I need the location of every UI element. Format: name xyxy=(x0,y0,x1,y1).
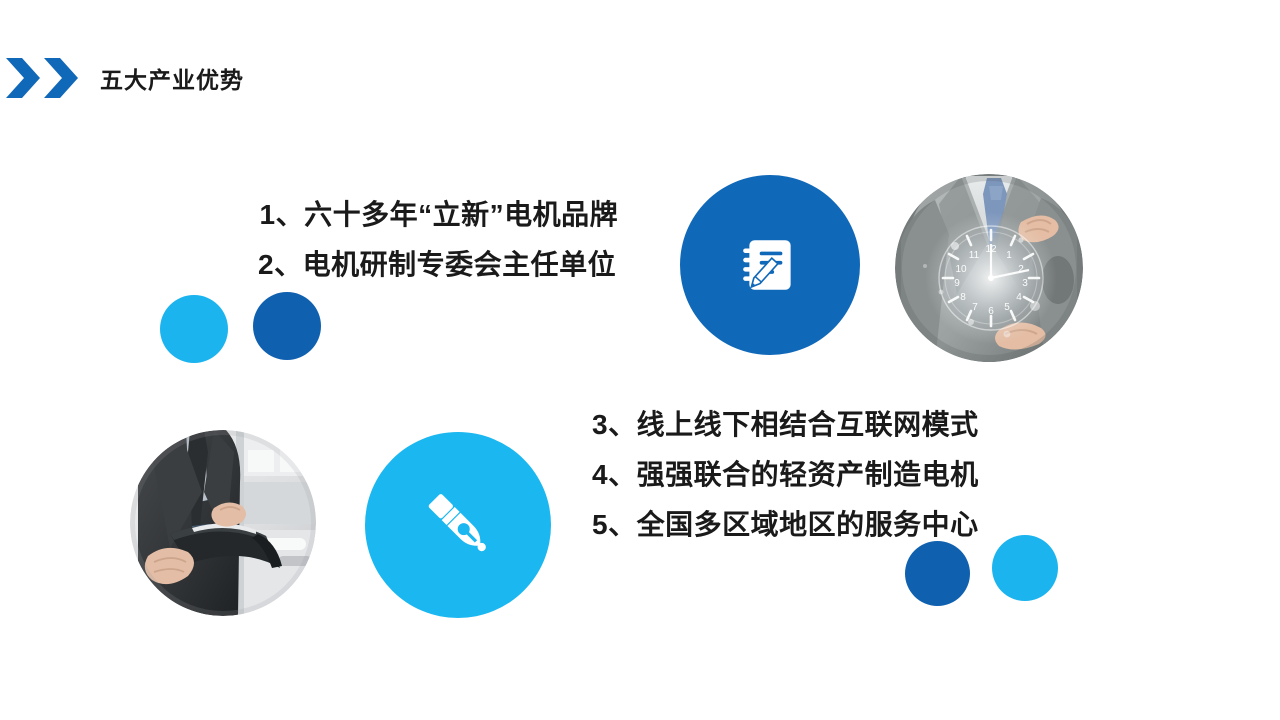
list-item: 2、电机研制专委会主任单位 xyxy=(258,240,618,290)
list-item: 5、全国多区域地区的服务中心 xyxy=(592,500,979,550)
svg-text:3: 3 xyxy=(1022,278,1028,289)
list-item: 1、六十多年“立新”电机品牌 xyxy=(258,190,618,240)
advantages-list-bottom: 3、线上线下相结合互联网模式 4、强强联合的轻资产制造电机 5、全国多区域地区的… xyxy=(592,400,979,550)
svg-text:1: 1 xyxy=(1006,250,1012,261)
slide-header: 五大产业优势 xyxy=(0,48,244,108)
businessman-with-folder-photo xyxy=(130,430,316,616)
double-chevron-right-icon xyxy=(6,58,78,98)
slide-canvas: 五大产业优势 1、六十多年“立新”电机品牌 2、电机研制专委会主任单位 xyxy=(0,0,1280,720)
decor-dot-dark xyxy=(905,541,970,606)
list-item: 3、线上线下相结合互联网模式 xyxy=(592,400,979,450)
fountain-pen-nib-icon xyxy=(421,488,495,562)
svg-text:4: 4 xyxy=(1016,292,1022,303)
page-title: 五大产业优势 xyxy=(100,61,244,95)
decor-dot-dark xyxy=(253,292,321,360)
decor-dot-light xyxy=(160,295,228,363)
list-item: 4、强强联合的轻资产制造电机 xyxy=(592,450,979,500)
svg-text:8: 8 xyxy=(960,292,966,303)
svg-text:2: 2 xyxy=(1018,264,1024,275)
svg-text:6: 6 xyxy=(988,306,994,317)
notepad-pencil-icon xyxy=(737,232,803,298)
advantages-list-top: 1、六十多年“立新”电机品牌 2、电机研制专委会主任单位 xyxy=(258,190,618,290)
svg-text:5: 5 xyxy=(1004,302,1010,313)
svg-text:11: 11 xyxy=(969,250,980,261)
svg-text:9: 9 xyxy=(954,278,960,289)
svg-text:12: 12 xyxy=(985,244,997,255)
svg-text:7: 7 xyxy=(972,302,978,313)
notepad-icon-circle xyxy=(680,175,860,355)
businessman-holding-clock-photo: 12 1 2 3 4 5 6 7 8 9 10 11 xyxy=(895,174,1083,362)
pen-nib-icon-circle xyxy=(365,432,551,618)
svg-text:10: 10 xyxy=(955,264,967,275)
decor-dot-light xyxy=(992,535,1058,601)
